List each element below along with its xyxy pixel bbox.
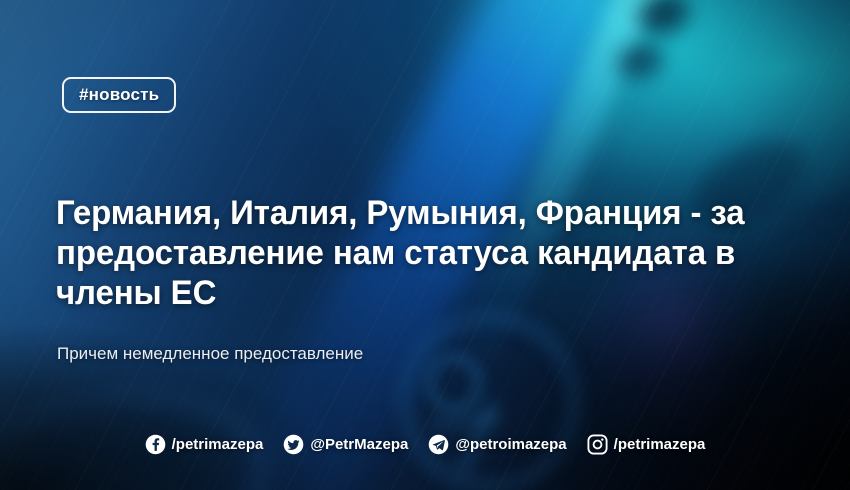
social-link-facebook[interactable]: /petrimazepa	[145, 434, 264, 455]
headline-line-1: Германия, Италия, Румыния, Франция - за	[56, 194, 745, 232]
card-content: #новость Германия, Италия, Румыния, Фран…	[0, 0, 850, 490]
subtitle: Причем немедленное предоставление	[57, 343, 363, 364]
social-handle-twitter: @PetrMazepa	[310, 436, 408, 453]
tag-badge-novost[interactable]: #новость	[62, 77, 176, 113]
social-handle-telegram: @petroimazepa	[455, 436, 566, 453]
headline-line-2: предоставление нам статуса кандидата в ч…	[56, 234, 735, 312]
social-link-instagram[interactable]: /petrimazepa	[587, 434, 706, 455]
headline: Германия, Италия, Румыния, Франция - за …	[56, 193, 782, 313]
news-card: #новость Германия, Италия, Румыния, Фран…	[0, 0, 850, 490]
social-link-twitter[interactable]: @PetrMazepa	[283, 434, 408, 455]
social-handle-instagram: /petrimazepa	[614, 436, 706, 453]
social-link-telegram[interactable]: @petroimazepa	[428, 434, 566, 455]
instagram-icon	[587, 434, 608, 455]
twitter-icon	[283, 434, 304, 455]
facebook-icon	[145, 434, 166, 455]
social-links-bar: /petrimazepa @PetrMazepa	[0, 434, 850, 455]
social-handle-facebook: /petrimazepa	[172, 436, 264, 453]
telegram-icon	[428, 434, 449, 455]
headline-line-3: ЕС	[171, 274, 217, 312]
